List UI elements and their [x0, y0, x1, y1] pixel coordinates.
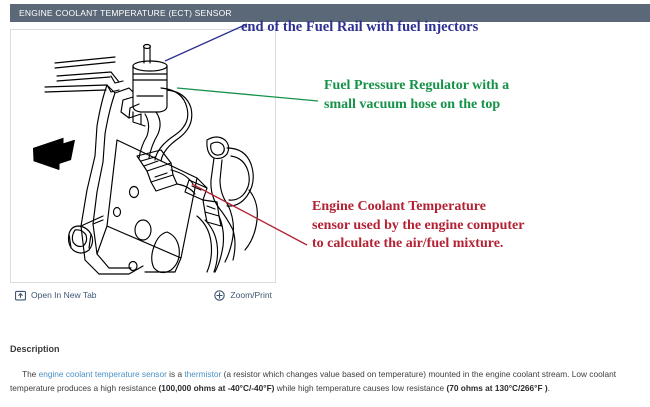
open-in-new-tab-label: Open In New Tab — [31, 290, 97, 300]
description-text-2: is a — [167, 369, 185, 379]
description-resistance-hot: (70 ohms at 130°C/266°F ) — [446, 383, 547, 393]
description-text-1: The — [22, 369, 39, 379]
page-title: ENGINE COOLANT TEMPERATURE (ECT) SENSOR — [10, 8, 232, 18]
plus-circle-icon — [214, 290, 225, 301]
link-engine-coolant-temperature-sensor[interactable]: engine coolant temperature sensor — [39, 369, 167, 379]
annotation-ect-sensor: Engine Coolant Temperature sensor used b… — [312, 198, 527, 254]
annotation-fuel-pressure-regulator: Fuel Pressure Regulator with a small vac… — [324, 77, 534, 114]
description-resistance-cold: (100,000 ohms at -40°C/-40°F) — [159, 383, 275, 393]
link-thermistor[interactable]: thermistor — [184, 369, 221, 379]
description-body: The engine coolant temperature sensor is… — [10, 368, 644, 395]
zoom-print-button[interactable]: Zoom/Print — [214, 290, 272, 301]
zoom-print-label: Zoom/Print — [230, 290, 272, 300]
description-heading: Description — [10, 344, 644, 354]
annotation-fuel-rail: end of the Fuel Rail with fuel injectors — [241, 18, 478, 37]
engine-diagram-illustration — [11, 30, 275, 282]
description-text-4: while high temperature causes low resist… — [274, 383, 446, 393]
figure-panel — [10, 29, 276, 283]
open-in-new-tab-button[interactable]: Open In New Tab — [15, 290, 97, 301]
description-text-5: . — [548, 383, 550, 393]
figure-toolbar: Open In New Tab Zoom/Print — [10, 285, 276, 305]
description-section: Description The engine coolant temperatu… — [10, 344, 644, 404]
external-link-icon — [15, 290, 26, 301]
